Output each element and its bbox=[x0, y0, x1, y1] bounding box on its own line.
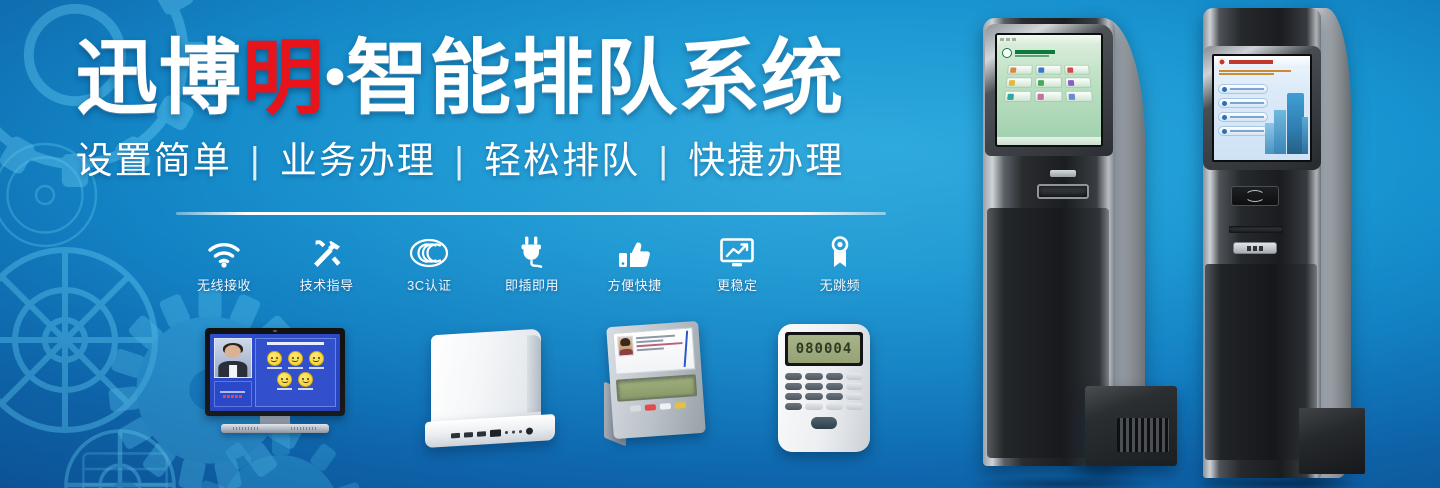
evaluator-key[interactable] bbox=[660, 403, 671, 410]
keypad-enter-key[interactable] bbox=[811, 417, 837, 429]
staff-info bbox=[214, 381, 252, 407]
building-photo bbox=[1264, 83, 1308, 154]
service-icon[interactable] bbox=[1066, 91, 1094, 102]
feature-item-convenient: 方便快捷 bbox=[587, 228, 683, 294]
service-icon[interactable] bbox=[1065, 77, 1092, 87]
keypad-key[interactable] bbox=[846, 373, 863, 380]
keypad-key[interactable] bbox=[846, 383, 863, 390]
monitor-screen bbox=[210, 334, 340, 411]
controller-panel bbox=[431, 329, 541, 428]
subtitle-item-4: 快捷办理 bbox=[688, 140, 844, 181]
menu-item[interactable] bbox=[1218, 126, 1268, 136]
feature-item-nohop: 无跳频 bbox=[792, 228, 888, 294]
white-controller bbox=[425, 332, 555, 450]
bank-logo bbox=[997, 44, 1101, 60]
kiosk-screen[interactable] bbox=[1212, 54, 1312, 162]
evaluator-key[interactable] bbox=[675, 402, 686, 409]
service-icon[interactable] bbox=[1035, 91, 1063, 102]
card-reader[interactable] bbox=[1231, 186, 1279, 206]
service-icon[interactable] bbox=[1004, 91, 1032, 102]
tools-icon bbox=[279, 228, 375, 268]
keypad-key[interactable] bbox=[805, 403, 822, 410]
bank-logo bbox=[1214, 56, 1310, 68]
kiosk-left bbox=[955, 18, 1170, 488]
keypad-key[interactable] bbox=[805, 373, 822, 380]
feature-item-wireless: 无线接收 bbox=[176, 228, 272, 294]
evaluator-key[interactable] bbox=[645, 404, 656, 411]
rating-face-group bbox=[258, 349, 333, 390]
keypad-key[interactable] bbox=[785, 383, 802, 390]
promo-banner: 迅博明•智能排队系统 设置简单 | 业务办理 | 轻松排队 | 快捷办理 bbox=[0, 0, 1440, 488]
feature-item-stable: 更稳定 bbox=[689, 228, 785, 294]
keypad-key[interactable] bbox=[785, 393, 802, 400]
wifi-icon bbox=[176, 228, 272, 268]
keypad-key[interactable] bbox=[785, 403, 802, 410]
feature-item-ccc: 3C认证 bbox=[381, 228, 477, 294]
menu-item[interactable] bbox=[1218, 112, 1268, 122]
evaluator-keys bbox=[618, 401, 698, 413]
kiosk-brand-badge bbox=[1050, 170, 1076, 177]
subtitle-separator: | bbox=[652, 140, 676, 181]
keypad-key[interactable] bbox=[805, 393, 822, 400]
product-showcase: 080004 bbox=[0, 318, 920, 468]
ccc-cert-icon bbox=[381, 228, 477, 268]
title-highlight: 明 bbox=[242, 33, 325, 124]
kiosk-screen-head bbox=[1203, 46, 1321, 170]
thumbs-up-icon bbox=[587, 228, 683, 268]
keypad-key[interactable] bbox=[826, 403, 843, 410]
kiosk-right bbox=[1185, 8, 1375, 488]
page-subtitle: 设置简单 | 业务办理 | 轻松排队 | 快捷办理 bbox=[0, 142, 920, 179]
controller-ports bbox=[451, 427, 533, 439]
feature-item-support: 技术指导 bbox=[279, 228, 375, 294]
feature-label: 3C认证 bbox=[381, 275, 477, 294]
feature-label: 无线接收 bbox=[176, 275, 272, 294]
screen-body bbox=[1214, 80, 1310, 154]
menu-item[interactable] bbox=[1218, 98, 1268, 108]
kiosk-shadow bbox=[968, 476, 1157, 488]
title-part2: 智能排队系统 bbox=[346, 33, 844, 124]
subtitle-item-3: 轻松排队 bbox=[484, 140, 640, 181]
monitor-bezel bbox=[205, 328, 345, 416]
rating-face[interactable] bbox=[288, 351, 303, 369]
subtitle-separator: | bbox=[448, 140, 472, 181]
terminal-keypad bbox=[785, 373, 863, 410]
keypad-key[interactable] bbox=[826, 373, 843, 380]
keypad-terminal: 080004 bbox=[778, 324, 870, 452]
subtitle-item-1: 设置简单 bbox=[76, 140, 232, 181]
evaluation-monitor bbox=[205, 328, 345, 433]
service-icon-grid bbox=[1004, 65, 1094, 102]
terminal-lcd: 080004 bbox=[785, 332, 863, 366]
kiosk-screen-head bbox=[985, 24, 1113, 156]
ticket-printer-slot bbox=[1037, 184, 1089, 199]
power-plug-icon bbox=[484, 228, 580, 268]
feature-label: 无跳频 bbox=[792, 275, 888, 294]
kiosk-base-box bbox=[1299, 408, 1365, 474]
service-icon[interactable] bbox=[1064, 65, 1090, 75]
keypad-key[interactable] bbox=[805, 383, 822, 390]
service-icon[interactable] bbox=[1036, 77, 1063, 87]
keypad-key[interactable] bbox=[826, 383, 843, 390]
rating-face[interactable] bbox=[267, 351, 282, 369]
keypad-key[interactable] bbox=[826, 393, 843, 400]
kiosk-base-box bbox=[1085, 386, 1177, 466]
screen-notice-lines bbox=[1219, 70, 1305, 77]
keypad-key[interactable] bbox=[846, 393, 863, 400]
service-icon[interactable] bbox=[1006, 77, 1033, 87]
horizontal-divider bbox=[176, 212, 886, 215]
feature-list: 无线接收 技术指导 bbox=[176, 228, 888, 294]
staff-photo bbox=[617, 336, 634, 357]
monitor-stand-base bbox=[221, 424, 329, 433]
monitor-stand-neck bbox=[260, 416, 290, 424]
screen-title-bar bbox=[997, 35, 1101, 44]
feature-label: 即插即用 bbox=[484, 275, 580, 294]
ticket-printer-slot bbox=[1229, 226, 1283, 233]
monitor-chart-icon bbox=[689, 228, 785, 268]
headline-block: 迅博明•智能排队系统 设置简单 | 业务办理 | 轻松排队 | 快捷办理 bbox=[0, 0, 920, 179]
rating-face[interactable] bbox=[309, 351, 324, 369]
screen-rating-panel bbox=[255, 338, 336, 407]
rating-face[interactable] bbox=[298, 372, 313, 390]
subtitle-separator: | bbox=[244, 140, 268, 181]
feature-label: 更稳定 bbox=[689, 275, 785, 294]
feature-item-plugplay: 即插即用 bbox=[484, 228, 580, 294]
bank-logo-mark bbox=[1002, 48, 1012, 58]
screen-footer-bar bbox=[997, 137, 1101, 145]
bank-logo-text bbox=[1229, 60, 1273, 64]
page-title: 迅博明•智能排队系统 bbox=[0, 38, 920, 120]
staff-photo bbox=[214, 338, 252, 378]
keypad-key[interactable] bbox=[785, 373, 802, 380]
staff-name-lines bbox=[636, 332, 691, 370]
title-dot: • bbox=[325, 44, 346, 109]
menu-item[interactable] bbox=[1218, 84, 1268, 94]
kiosk-shadow bbox=[1196, 476, 1363, 488]
evaluator-body bbox=[606, 321, 706, 439]
kiosk-screen[interactable] bbox=[995, 33, 1103, 147]
rating-face[interactable] bbox=[277, 372, 292, 390]
service-icon[interactable] bbox=[1007, 65, 1033, 75]
feature-label: 方便快捷 bbox=[587, 275, 683, 294]
keypad-key[interactable] bbox=[846, 403, 863, 410]
terminal-display-number: 080004 bbox=[796, 341, 853, 357]
feature-label: 技术指导 bbox=[279, 275, 375, 294]
kiosk-brand-badge bbox=[1233, 242, 1277, 254]
evaluator-name-card bbox=[613, 327, 696, 374]
desk-evaluator bbox=[600, 324, 720, 452]
vent-grille bbox=[1117, 418, 1169, 452]
evaluator-lcd bbox=[616, 374, 697, 402]
service-icon[interactable] bbox=[1036, 65, 1062, 75]
screen-staff-panel bbox=[214, 338, 252, 407]
title-part1: 迅博 bbox=[76, 33, 242, 124]
award-ribbon-icon bbox=[792, 228, 888, 268]
evaluator-key[interactable] bbox=[630, 405, 641, 412]
rating-question bbox=[267, 342, 324, 345]
bank-logo-mark bbox=[1218, 58, 1226, 66]
rating-stars bbox=[223, 395, 242, 398]
service-menu bbox=[1218, 84, 1268, 136]
subtitle-item-2: 业务办理 bbox=[280, 140, 436, 181]
